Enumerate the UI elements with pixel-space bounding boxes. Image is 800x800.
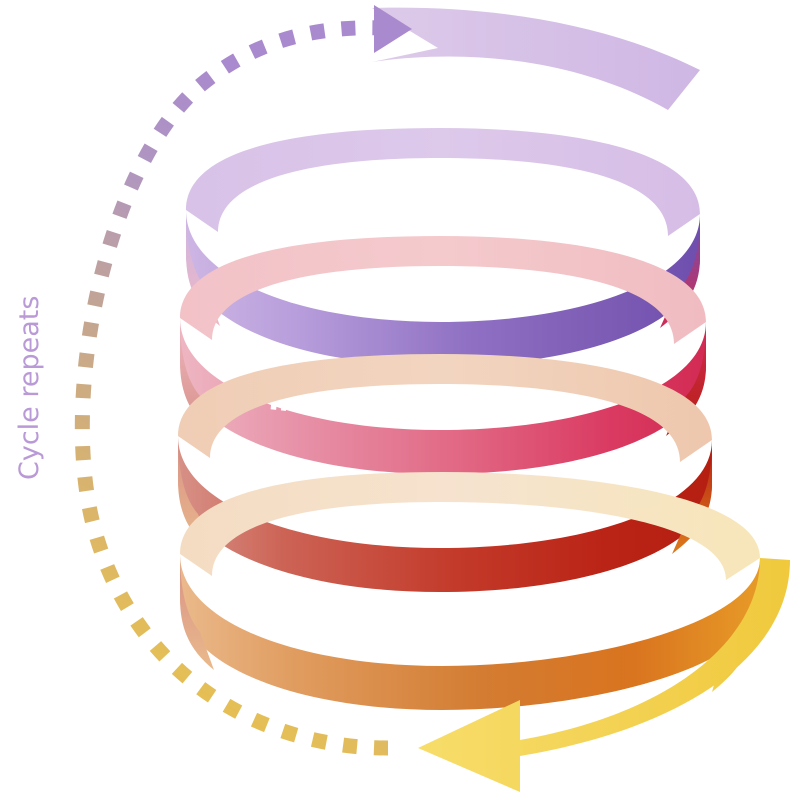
cycle-repeats-caption: Cycle repeats (14, 296, 45, 480)
diagram-canvas: Strategic context Intervention planning (0, 0, 800, 800)
back-band-strategic-context (186, 128, 700, 236)
ribbon-tail-top (372, 8, 700, 110)
spiral-helix: Strategic context Intervention planning (178, 8, 790, 792)
spiral-cycle-diagram: Strategic context Intervention planning (0, 0, 800, 800)
spiral-loop-strategic-context[interactable]: Strategic context (186, 8, 700, 366)
cycle-repeats-label: Cycle repeats (14, 296, 45, 480)
band-label-learning: Learning (361, 610, 505, 655)
band-label-strategic-context: Strategic context (284, 269, 566, 315)
